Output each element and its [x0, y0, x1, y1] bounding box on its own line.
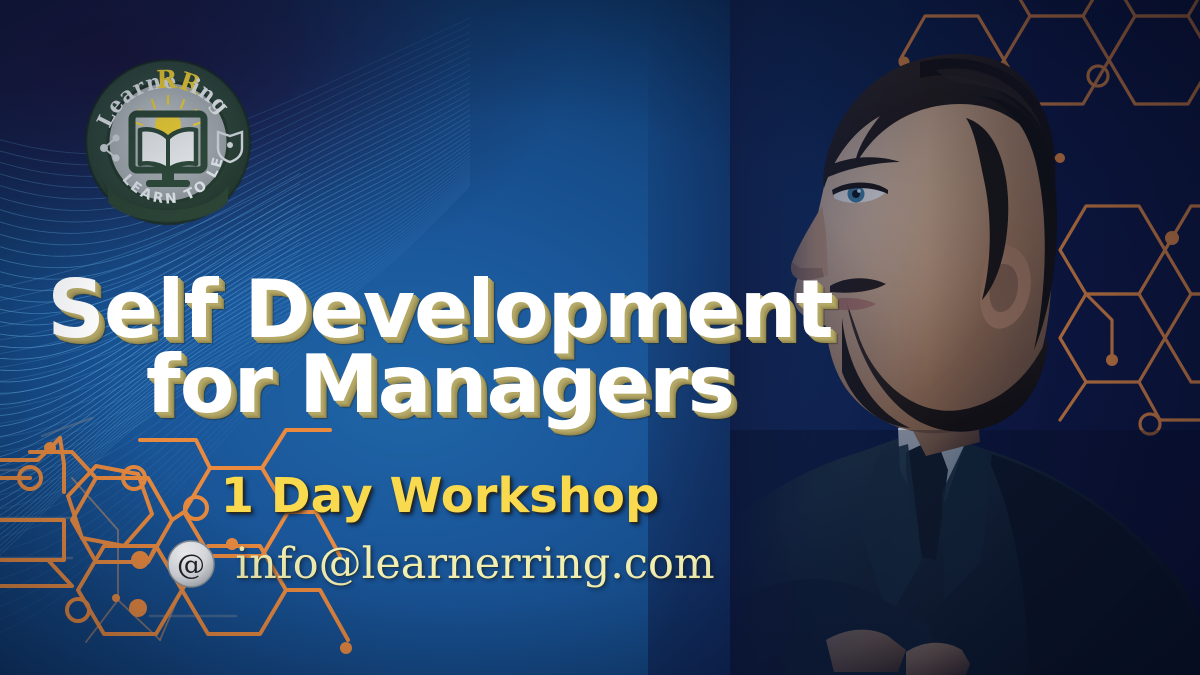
page-title: Self Development for Managers — [0, 272, 880, 422]
subheadline: 1 Day Workshop — [0, 468, 880, 524]
at-glyph: @ — [177, 548, 205, 581]
email-address[interactable]: info@learnerring.com — [235, 539, 714, 589]
brand-logo[interactable]: Learne RR ing — [78, 52, 258, 232]
open-book-icon — [140, 129, 196, 170]
headline-line-1: Self Development — [0, 272, 880, 347]
headline-line-2: for Managers — [0, 347, 880, 422]
event-banner-poster: Learne RR ing — [0, 0, 1200, 675]
at-sign-icon: @ — [165, 538, 217, 590]
contact-email-row[interactable]: @ info@learnerring.com — [0, 538, 880, 590]
